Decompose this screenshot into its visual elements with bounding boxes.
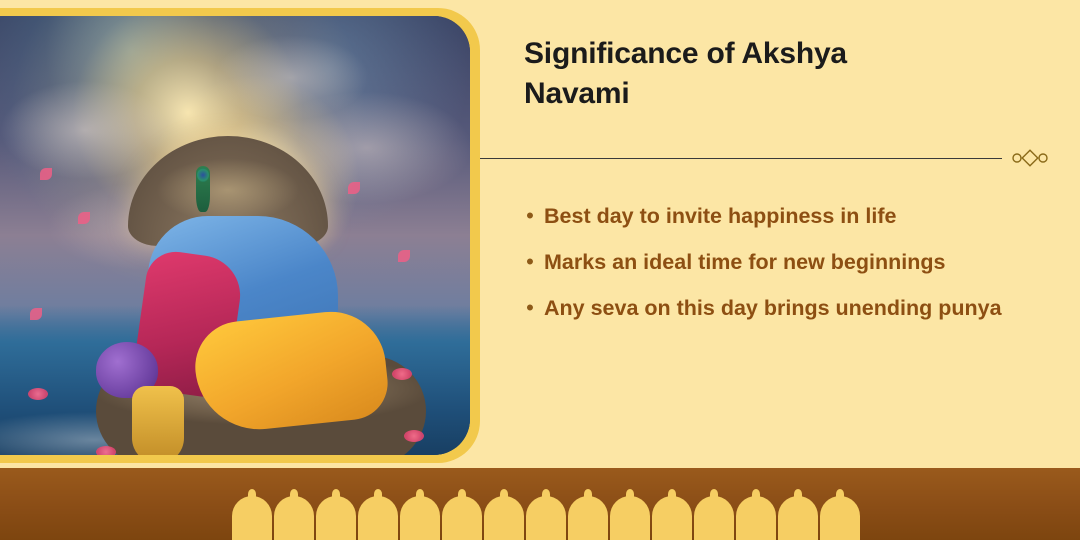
arch-shape [526, 496, 566, 540]
arch-shape [232, 496, 272, 540]
divider [480, 146, 1052, 170]
lotus-flower [404, 430, 424, 442]
flower-petal [40, 168, 52, 180]
deity-dhoti [191, 306, 391, 435]
gada-mace [132, 386, 184, 455]
arch-decoration [232, 496, 860, 540]
arch-shape [694, 496, 734, 540]
bullet-dot-icon: • [516, 288, 544, 328]
vishnu-illustration [0, 16, 470, 455]
flower-petal [78, 212, 90, 224]
bullet-list: • Best day to invite happiness in life •… [516, 196, 1036, 334]
list-item: • Any seva on this day brings unending p… [516, 288, 1036, 328]
arch-shape [400, 496, 440, 540]
flower-petal [348, 182, 360, 194]
content-panel: Significance of Akshya Navami [524, 34, 1044, 113]
divider-line [480, 158, 1002, 159]
page-title: Significance of Akshya Navami [524, 34, 924, 113]
lotus-flower [392, 368, 412, 380]
bullet-dot-icon: • [516, 242, 544, 282]
list-item: • Marks an ideal time for new beginnings [516, 242, 1036, 282]
peacock-feather-icon [196, 166, 210, 212]
arch-shape [736, 496, 776, 540]
flower-petal [398, 250, 410, 262]
arch-shape [358, 496, 398, 540]
flower-petal [30, 308, 42, 320]
list-item-label: Best day to invite happiness in life [544, 196, 1004, 236]
illustration-frame [0, 16, 470, 455]
arch-shape [820, 496, 860, 540]
arch-shape [610, 496, 650, 540]
list-item-label: Any seva on this day brings unending pun… [544, 288, 1004, 328]
bullet-dot-icon: • [516, 196, 544, 236]
arch-shape [778, 496, 818, 540]
list-item-label: Marks an ideal time for new beginnings [544, 242, 1004, 282]
lotus-flower [96, 446, 116, 455]
diamond-ornament-icon [1008, 146, 1052, 170]
illustration-card [0, 8, 480, 463]
list-item: • Best day to invite happiness in life [516, 196, 1036, 236]
arch-shape [442, 496, 482, 540]
footer-bar [0, 468, 1080, 540]
arch-shape [484, 496, 524, 540]
arch-shape [568, 496, 608, 540]
arch-shape [652, 496, 692, 540]
arch-shape [274, 496, 314, 540]
lotus-flower [28, 388, 48, 400]
arch-shape [316, 496, 356, 540]
